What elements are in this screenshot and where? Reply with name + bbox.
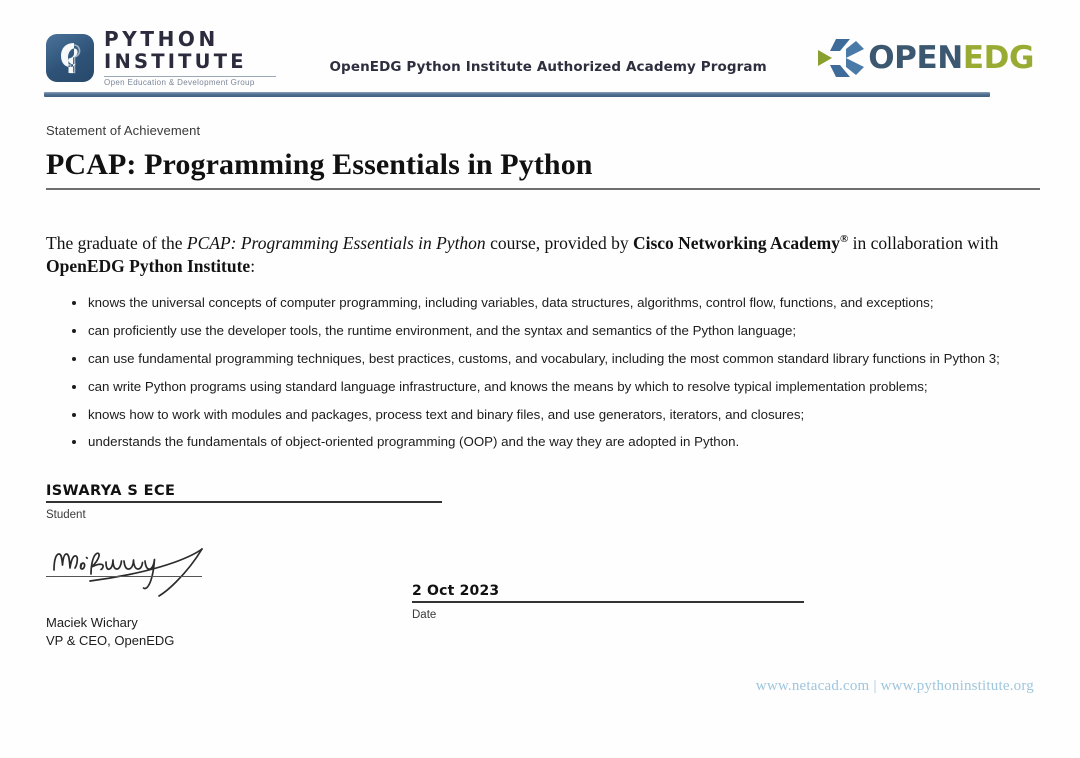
page-title: PCAP: Programming Essentials in Python [46,148,593,182]
title-divider-rule [46,188,1040,190]
student-label: Student [46,509,86,521]
issue-date-value: 2 Oct 2023 [412,583,499,599]
intro-org-openedg: OpenEDG Python Institute [46,256,250,276]
certificate-page: PYTHON INSTITUTE Open Education & Develo… [0,0,1080,758]
list-item: understands the fundamentals of object-o… [46,435,1036,448]
certificate-header: PYTHON INSTITUTE Open Education & Develo… [46,24,1034,92]
openedg-x-icon [816,37,866,79]
footer-separator: | [869,678,880,694]
footer-links: www.netacad.com|www.pythoninstitute.org [0,678,1034,695]
intro-part-4: : [250,256,255,276]
intro-part-3: in collaboration with [848,233,998,253]
signatory-title: VP & CEO, OpenEDG [46,632,174,650]
registered-trademark-icon: ® [840,233,848,245]
authorized-academy-program-text: OpenEDG Python Institute Authorized Acad… [329,41,766,75]
python-institute-wordmark: PYTHON INSTITUTE Open Education & Develo… [104,29,276,87]
footer-link-netacad[interactable]: www.netacad.com [756,678,870,694]
statement-of-achievement-label: Statement of Achievement [46,123,200,138]
intro-org-cisco: Cisco Networking Academy [633,233,840,253]
python-institute-tagline: Open Education & Development Group [104,79,276,87]
signatory-block: Maciek Wichary VP & CEO, OpenEDG [46,614,174,651]
list-item: knows how to work with modules and packa… [46,408,1036,421]
python-institute-line-1: PYTHON [104,29,276,49]
intro-part-1: The graduate of the [46,233,187,253]
signatory-name: Maciek Wichary [46,614,174,632]
header-divider-rule [44,92,990,97]
date-underline [412,601,804,603]
signature-underline [46,576,202,577]
intro-part-2: course, provided by [486,233,633,253]
openedg-word-edg: EDG [963,40,1034,76]
competency-list: knows the universal concepts of computer… [46,296,1036,463]
student-name: ISWARYA S ECE [46,483,175,499]
footer-link-pythoninstitute[interactable]: www.pythoninstitute.org [881,678,1034,694]
python-institute-divider [104,76,276,77]
intro-course-name: PCAP: Programming Essentials in Python [187,233,486,253]
list-item: can proficiently use the developer tools… [46,324,1036,337]
list-item: knows the universal concepts of computer… [46,296,1036,309]
signature-image [46,540,256,600]
list-item: can use fundamental programming techniqu… [46,352,1036,365]
date-label: Date [412,609,436,621]
student-name-underline [46,501,442,503]
openedg-word-open: OPEN [868,40,963,76]
openedg-wordmark: OPENEDG [868,43,1034,74]
list-item: can write Python programs using standard… [46,380,1036,393]
python-institute-p-icon [46,34,94,82]
openedg-logo: OPENEDG [816,37,1034,79]
python-institute-logo: PYTHON INSTITUTE Open Education & Develo… [46,29,276,87]
python-institute-line-2: INSTITUTE [104,52,276,72]
intro-paragraph: The graduate of the PCAP: Programming Es… [46,232,1036,279]
